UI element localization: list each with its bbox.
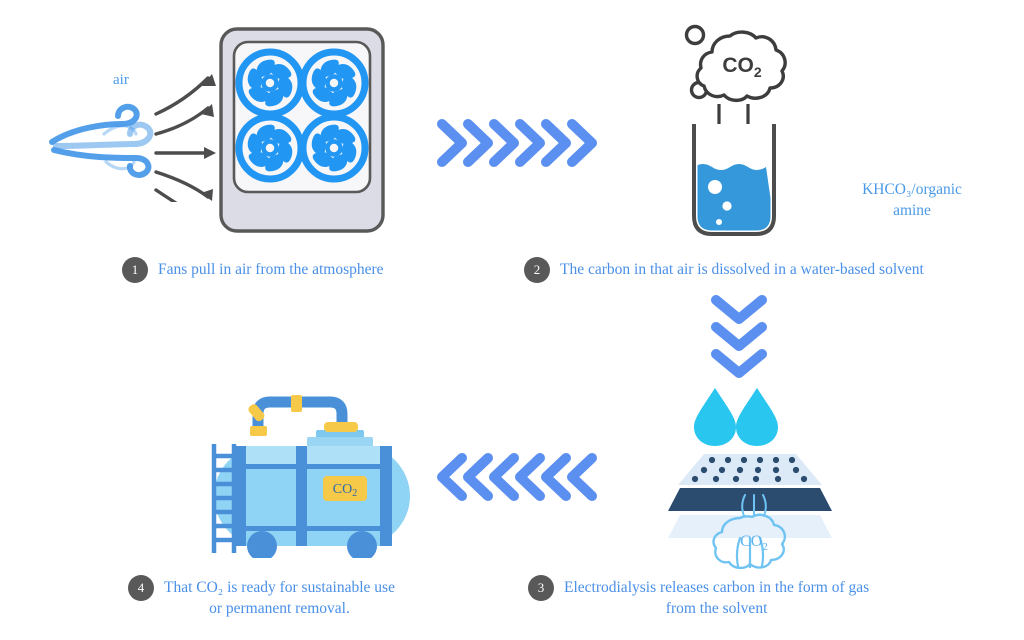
- co2-cloud-bottom-text: CO2: [740, 533, 768, 553]
- co2-tank: CO2: [190, 378, 426, 563]
- fan-unit-svg: [218, 26, 386, 234]
- water-droplet-icon: [694, 388, 736, 446]
- step-2: 2 The carbon in that air is dissolved in…: [524, 257, 924, 283]
- solvent-label: KHCO₃/organic amine: [812, 180, 1012, 222]
- wind-icon: [52, 107, 150, 175]
- step-1: 1 Fans pull in air from the atmosphere: [122, 257, 384, 283]
- tank-hatch-lower: [307, 437, 373, 447]
- chevron-down-row: [702, 292, 776, 378]
- solvent-label-line2: amine: [812, 201, 1012, 222]
- bubble-circle-large: [687, 27, 704, 44]
- fan-panel: [234, 42, 370, 192]
- co2-output-cloud: CO2: [700, 494, 810, 575]
- droplet-group: [694, 388, 778, 446]
- step-3: 3 Electrodialysis releases carbon in the…: [528, 575, 869, 620]
- step-1-badge: 1: [122, 257, 148, 283]
- step-2-badge: 2: [524, 257, 550, 283]
- step-2-caption: The carbon in that air is dissolved in a…: [560, 257, 924, 281]
- chevrons-step2-to-3: [702, 292, 776, 383]
- membrane-top-layer: [678, 454, 822, 485]
- pipe-collar: [250, 426, 267, 436]
- solvent-label-line1: KHCO₃/organic: [812, 180, 1012, 201]
- co2-tank-svg: CO2: [190, 378, 426, 558]
- step-4: 4 That CO₂ is ready for sustainable use …: [128, 575, 395, 620]
- step-4-caption: That CO₂ is ready for sustainable use or…: [164, 575, 395, 620]
- airflow-arrowheads: [194, 74, 216, 202]
- step-3-caption: Electrodialysis releases carbon in the f…: [564, 575, 869, 620]
- tank-hatch-cap: [324, 422, 358, 432]
- chevrons-step3-to-4: [434, 446, 600, 513]
- co2-cloud-wisps: [742, 495, 766, 516]
- wind-and-arrows-svg: [44, 62, 224, 202]
- beaker-group: CO2: [668, 16, 848, 261]
- chevron-right-row: [434, 112, 600, 174]
- step-3-badge: 3: [528, 575, 554, 601]
- airflow-arrow-set: [156, 78, 210, 202]
- co2-output-cloud-svg: CO2: [700, 494, 810, 570]
- fan-unit: [218, 26, 386, 239]
- diagram-canvas: air: [0, 0, 1024, 640]
- chevron-left-row: [434, 446, 600, 508]
- beaker-liquid: [694, 164, 776, 236]
- tank-pipe-assembly: [247, 395, 373, 447]
- air-label: air: [113, 72, 129, 89]
- step-1-caption: Fans pull in air from the atmosphere: [158, 257, 384, 281]
- step-4-badge: 4: [128, 575, 154, 601]
- water-droplet-icon: [736, 388, 778, 446]
- chevrons-step1-to-2: [434, 112, 600, 179]
- pipe-collar: [291, 395, 302, 412]
- air-intake-group: [44, 62, 224, 202]
